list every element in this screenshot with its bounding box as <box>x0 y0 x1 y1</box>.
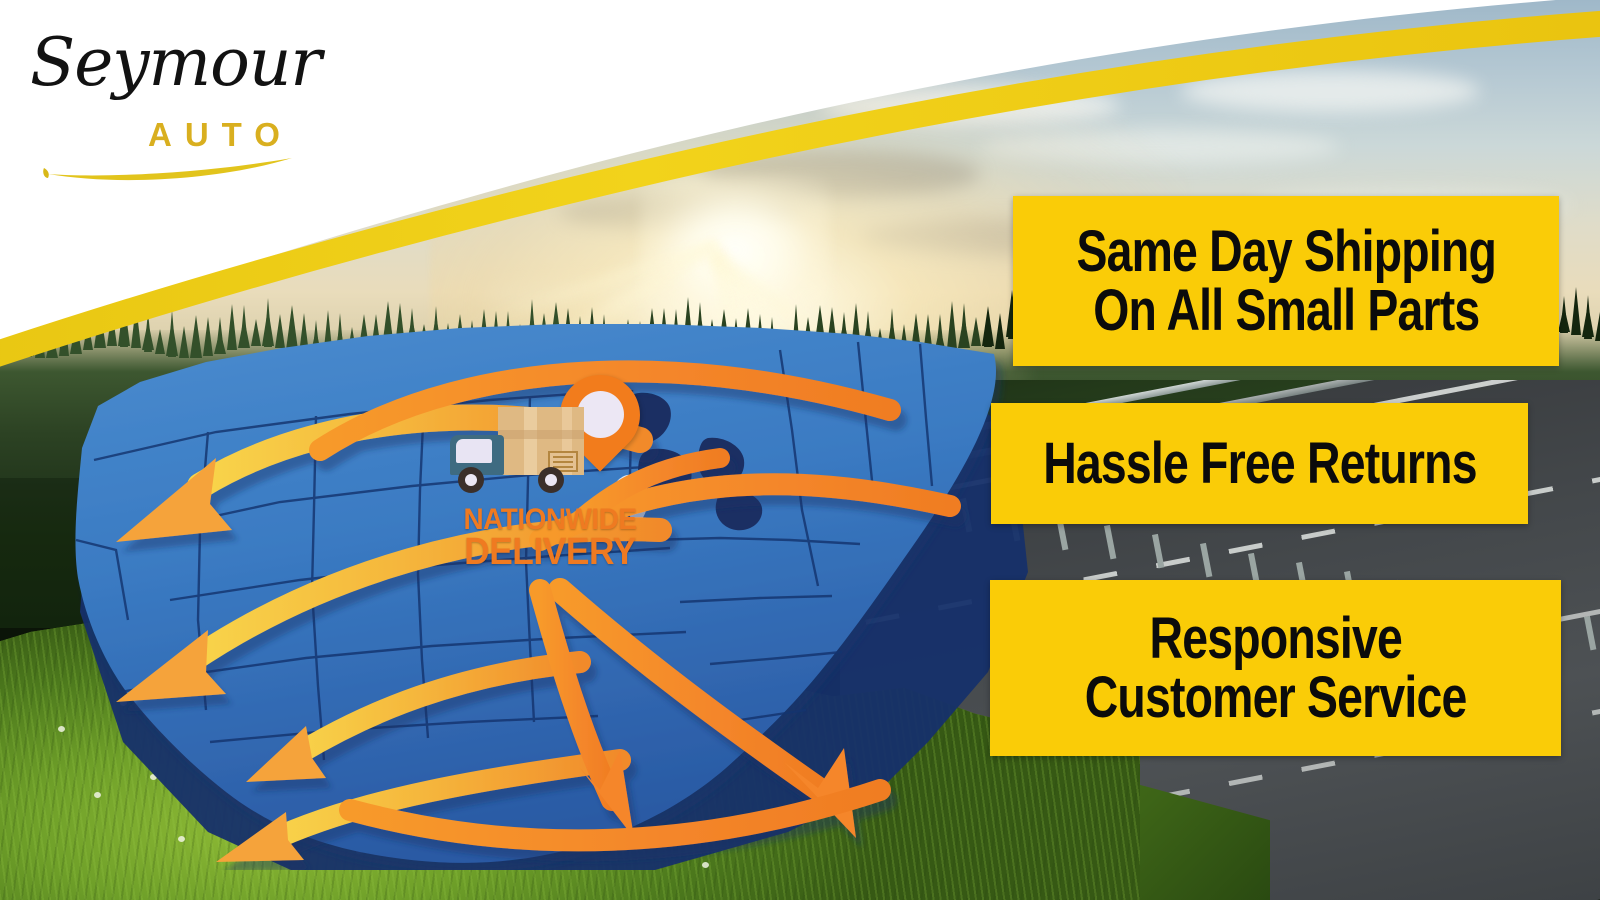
truck-windshield <box>456 439 492 463</box>
nationwide-text: NATIONWIDE <box>438 505 661 534</box>
truck-box-band <box>524 407 537 475</box>
brand-logo[interactable]: Seymour AUTO <box>30 24 350 164</box>
tree-silhouette <box>0 328 8 352</box>
feature-line: On All Small Parts <box>1093 281 1479 340</box>
truck-box-band <box>498 430 584 439</box>
nationwide-delivery-badge: NATIONWIDE DELIVERY <box>440 370 660 580</box>
truck-wheel <box>538 467 564 493</box>
logo-script-text: Seymour <box>30 24 321 101</box>
feature-line: Hassle Free Returns <box>1043 434 1477 493</box>
tree-silhouette <box>1560 296 1568 333</box>
truck-wheel <box>458 467 484 493</box>
delivery-text: DELIVERY <box>438 534 661 571</box>
tree-silhouette <box>1571 287 1581 335</box>
feature-line: Customer Service <box>1085 668 1467 727</box>
feature-line: Responsive <box>1149 609 1401 668</box>
nationwide-delivery-label: NATIONWIDE DELIVERY <box>430 505 670 572</box>
promo-banner: NATIONWIDE DELIVERY Seymour AUTO <box>0 0 1600 900</box>
logo-swoosh-icon <box>30 134 330 184</box>
feature-box-responsive-customer-service: Responsive Customer Service <box>990 580 1561 756</box>
delivery-truck-icon <box>450 405 590 495</box>
tree-silhouette <box>1584 295 1592 339</box>
tree-silhouette <box>1595 312 1600 341</box>
feature-box-same-day-shipping: Same Day Shipping On All Small Parts <box>1013 196 1559 366</box>
feature-line: Same Day Shipping <box>1076 222 1496 281</box>
feature-box-hassle-free-returns: Hassle Free Returns <box>991 403 1528 524</box>
